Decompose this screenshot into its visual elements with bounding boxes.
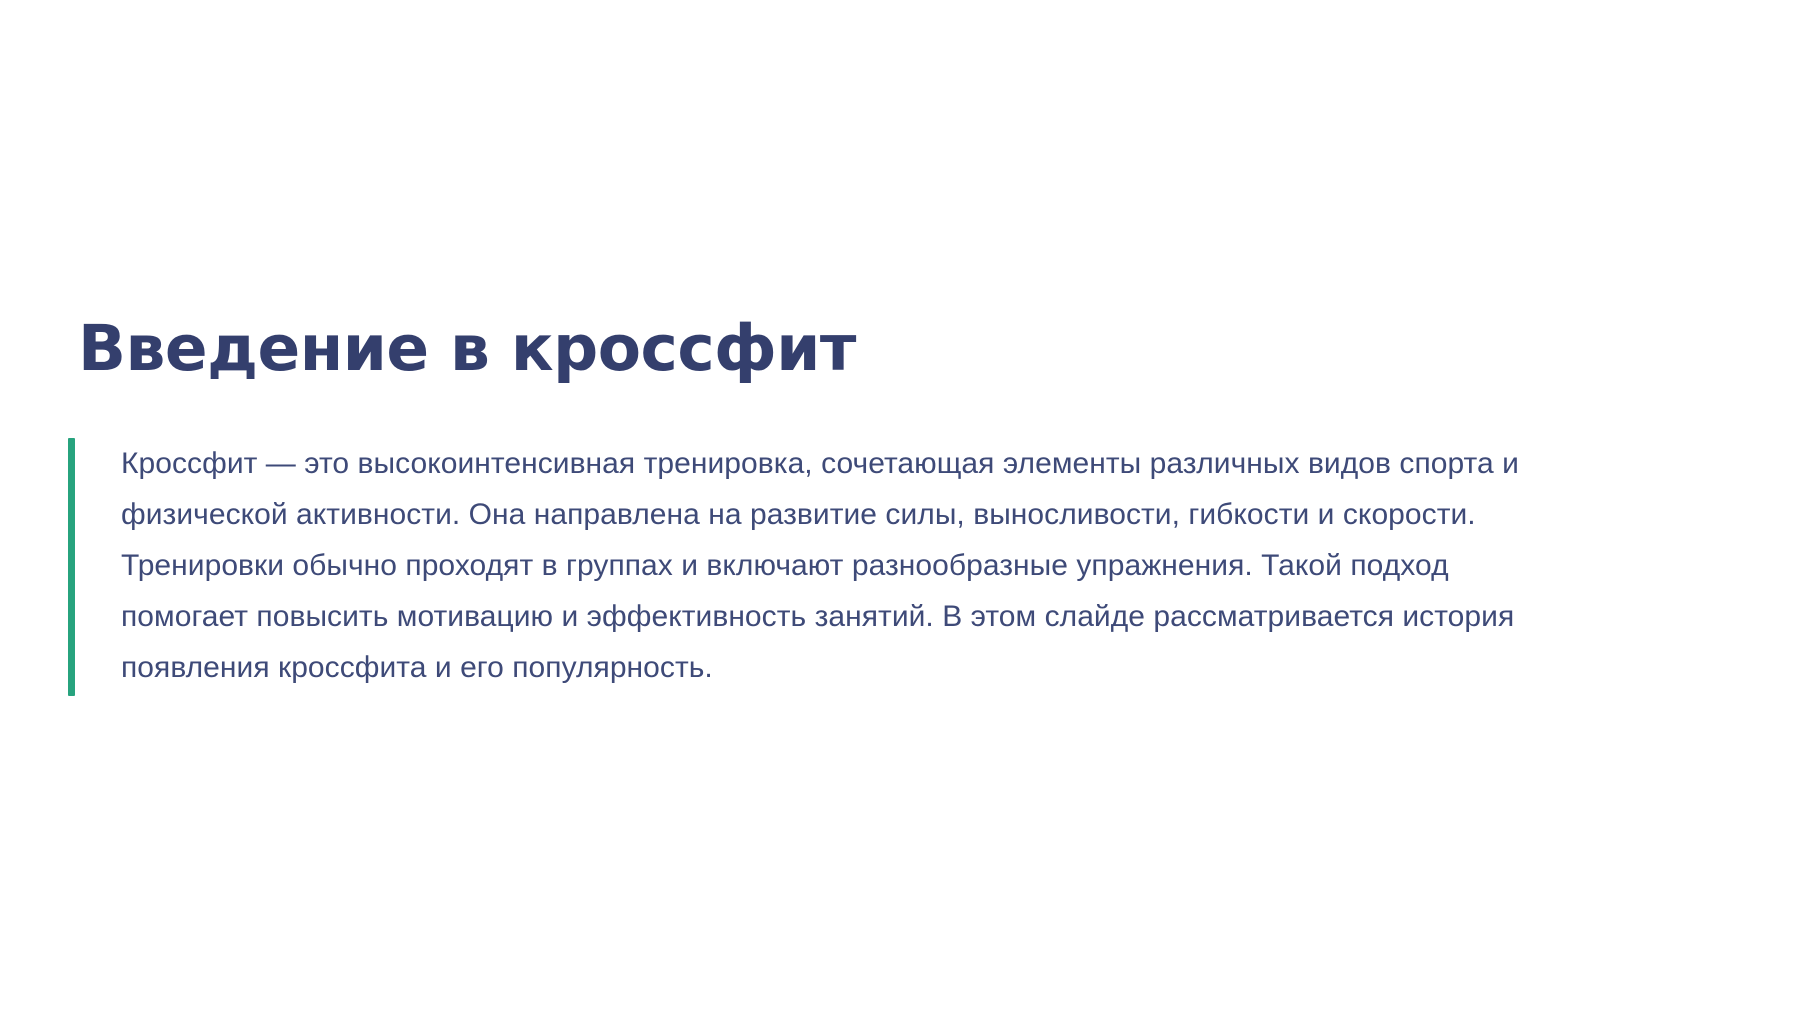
body-content-block: Кроссфит — это высокоинтенсивная трениро… — [68, 438, 1708, 696]
body-paragraph: Кроссфит — это высокоинтенсивная трениро… — [75, 438, 1541, 696]
accent-bar — [68, 438, 75, 696]
page-title: Введение в кроссфит — [78, 314, 856, 385]
presentation-slide: Введение в кроссфит Кроссфит — это высок… — [0, 0, 1800, 1013]
